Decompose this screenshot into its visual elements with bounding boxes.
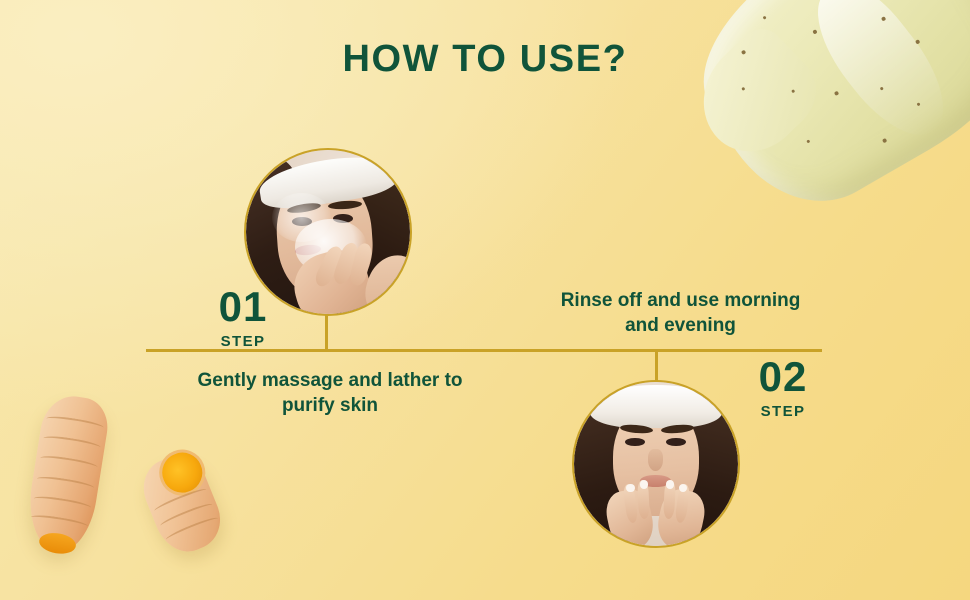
step-1-caption: Gently massage and lather to purify skin [190, 368, 470, 418]
turmeric-cut-icon: cut turmeric root showing orange interio… [134, 448, 229, 561]
turmeric-cut-alt: cut turmeric root showing orange interio… [134, 471, 135, 472]
how-to-use-poster: HOW TO USE? woman massaging cleansing fo… [0, 0, 970, 600]
step-2-photo: woman with clean skin touching her chin … [572, 380, 740, 548]
turmeric-cut-face [152, 443, 212, 503]
step-1-number: 01 [188, 286, 298, 328]
turmeric-root-icon: whole turmeric root [22, 392, 112, 556]
step-2-caption: Rinse off and use morning and evening [548, 288, 813, 338]
page-title: HOW TO USE? [0, 40, 970, 78]
step-1-label: STEP [188, 333, 298, 350]
step-2-label: STEP [728, 403, 838, 420]
step-2-number: 02 [728, 356, 838, 398]
cream-swatch-decoration [669, 0, 970, 234]
step-1-badge: 01 STEP [188, 286, 298, 350]
step-2-badge: 02 STEP [728, 356, 838, 420]
turmeric-root-alt: whole turmeric root [46, 392, 47, 393]
